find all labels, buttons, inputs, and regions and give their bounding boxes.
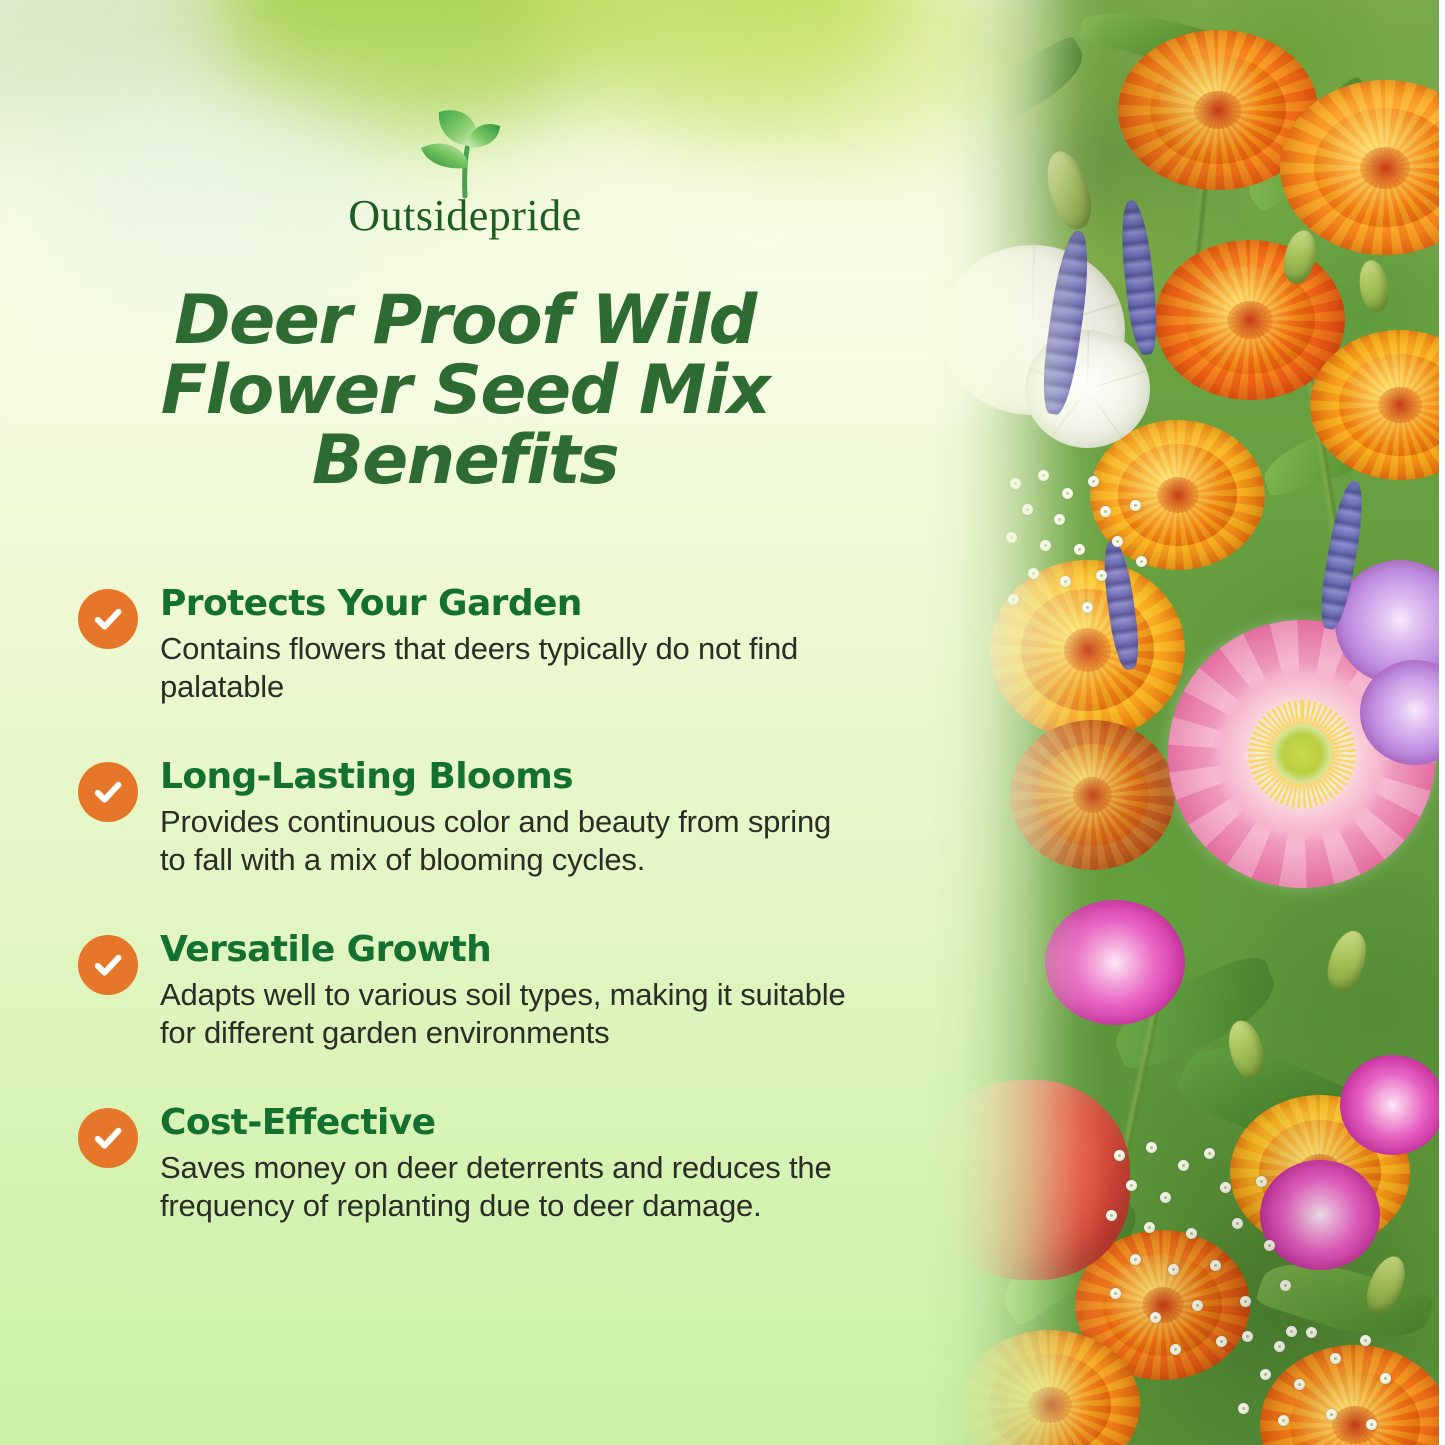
benefit-item: Cost-Effective Saves money on deer deter… xyxy=(78,1102,898,1225)
check-glyph xyxy=(91,948,125,982)
benefit-description: Provides continuous color and beauty fro… xyxy=(160,803,860,879)
check-circle-icon xyxy=(78,1108,138,1168)
seedling-leaves-icon xyxy=(405,96,525,200)
benefit-text: Long-Lasting Blooms Provides continuous … xyxy=(160,756,898,879)
benefit-description: Saves money on deer deterrents and reduc… xyxy=(160,1149,860,1225)
infographic-canvas: Outsidepride Deer Proof Wild Flower Seed… xyxy=(0,0,1445,1445)
benefit-item: Protects Your Garden Contains flowers th… xyxy=(78,583,898,706)
benefit-description: Contains flowers that deers typically do… xyxy=(160,630,860,706)
benefit-description: Adapts well to various soil types, makin… xyxy=(160,976,860,1052)
benefit-item: Long-Lasting Blooms Provides continuous … xyxy=(78,756,898,879)
check-glyph xyxy=(91,602,125,636)
benefits-list: Protects Your Garden Contains flowers th… xyxy=(78,583,898,1275)
title-line-2: Flower Seed Mix xyxy=(90,356,840,426)
right-white-border xyxy=(1439,0,1445,1445)
benefit-text: Cost-Effective Saves money on deer deter… xyxy=(160,1102,898,1225)
benefit-text: Versatile Growth Adapts well to various … xyxy=(160,929,898,1052)
title-line-3: Benefits xyxy=(90,426,840,496)
alyssum-cluster xyxy=(1000,470,1180,620)
benefit-title: Cost-Effective xyxy=(160,1102,898,1143)
brand-name: Outsidepride xyxy=(348,194,581,238)
alyssum-cluster xyxy=(1230,1325,1430,1445)
benefit-title: Protects Your Garden xyxy=(160,583,898,624)
check-glyph xyxy=(91,775,125,809)
benefit-item: Versatile Growth Adapts well to various … xyxy=(78,929,898,1052)
benefit-title: Versatile Growth xyxy=(160,929,898,970)
marigold-flower xyxy=(1010,720,1175,870)
benefit-text: Protects Your Garden Contains flowers th… xyxy=(160,583,898,706)
benefit-title: Long-Lasting Blooms xyxy=(160,756,898,797)
photo-inner xyxy=(930,0,1440,1445)
page-title: Deer Proof Wild Flower Seed Mix Benefits xyxy=(0,286,930,496)
left-content-panel: Outsidepride Deer Proof Wild Flower Seed… xyxy=(0,0,930,1445)
title-line-1: Deer Proof Wild xyxy=(90,286,840,356)
check-circle-icon xyxy=(78,935,138,995)
check-circle-icon xyxy=(78,762,138,822)
check-circle-icon xyxy=(78,589,138,649)
wildflower-mix-photo xyxy=(930,0,1440,1445)
petunia-flower xyxy=(1340,1055,1440,1155)
petunia-flower xyxy=(1045,900,1185,1025)
check-glyph xyxy=(91,1121,125,1155)
brand-logo[interactable]: Outsidepride xyxy=(0,96,930,238)
